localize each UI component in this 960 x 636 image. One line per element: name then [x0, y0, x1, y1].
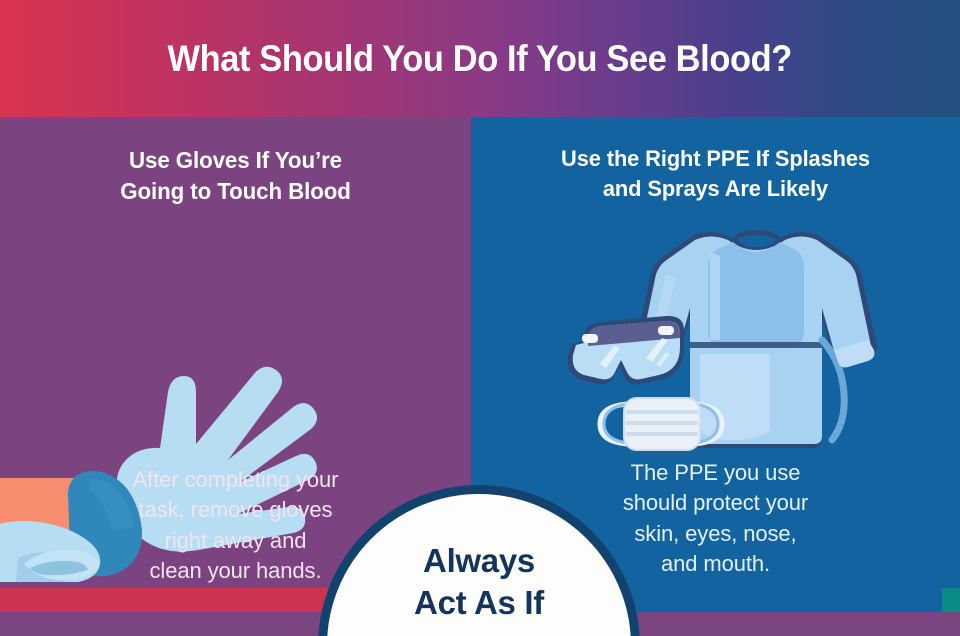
- page-title: What Should You Do If You See Blood?: [168, 38, 792, 80]
- panel-ppe-heading-line2: and Sprays Are Likely: [478, 174, 952, 204]
- panel-gloves-heading-line2: Going to Touch Blood: [7, 176, 464, 207]
- header-band: What Should You Do If You See Blood?: [0, 0, 960, 117]
- panel-gloves-heading-line1: Use Gloves If You’re: [7, 145, 464, 176]
- center-badge-line2: Act As If: [414, 582, 544, 624]
- panel-gloves-body-line1: After completing your: [0, 465, 471, 495]
- panel-ppe-body-line1: The PPE you use: [471, 458, 960, 488]
- panel-ppe-heading: Use the Right PPE If Splashes and Sprays…: [478, 144, 952, 204]
- panel-gloves-heading: Use Gloves If You’re Going to Touch Bloo…: [7, 145, 464, 206]
- panel-ppe-heading-line1: Use the Right PPE If Splashes: [478, 144, 952, 174]
- ppe-gown-goggles-mask-icon: [560, 222, 905, 462]
- infographic-poster: What Should You Do If You See Blood? Use…: [0, 0, 960, 636]
- bottom-bar-teal: [942, 588, 960, 612]
- center-badge-text: Always Act As If: [414, 540, 544, 624]
- center-badge-line1: Always: [414, 540, 544, 582]
